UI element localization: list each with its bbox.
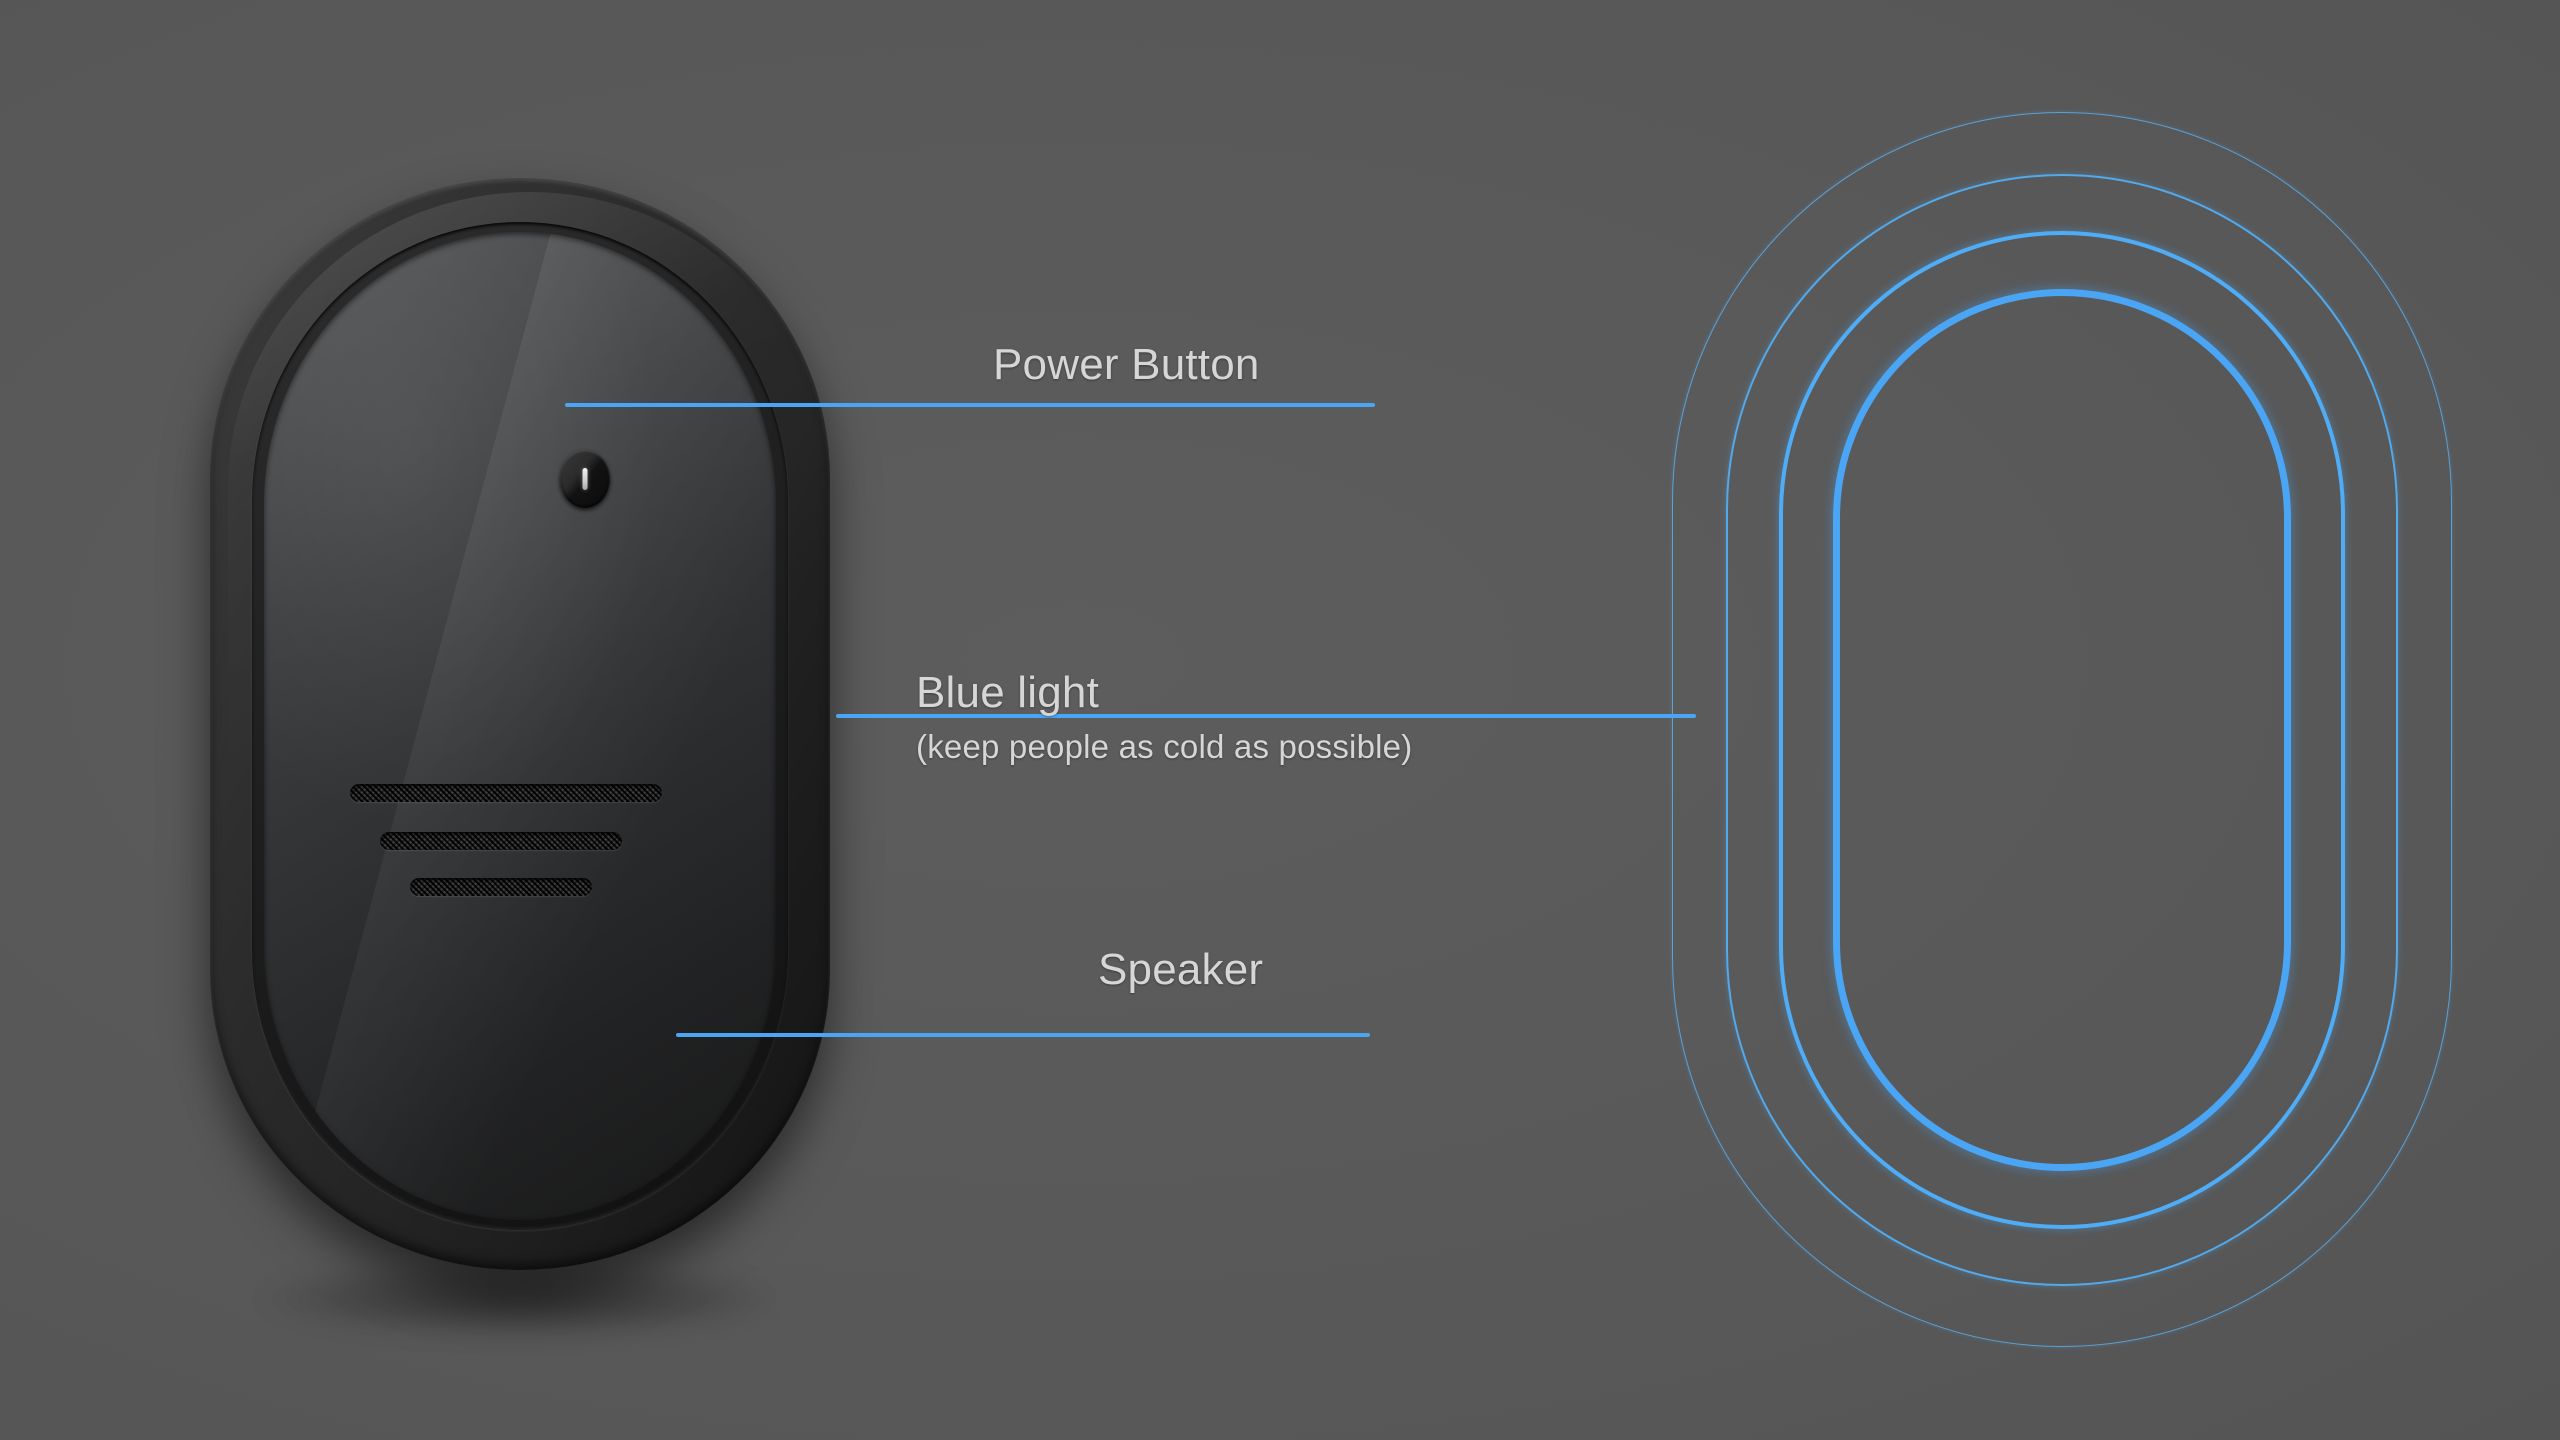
diagram-canvas: Power Button Blue light (keep people as … [0, 0, 2560, 1440]
speaker-grille-bar [410, 878, 592, 896]
device-front-panel [264, 232, 776, 1220]
speaker-grille-bar [380, 832, 622, 850]
callout-label-power-button: Power Button [993, 340, 1260, 390]
callout-line-power-button [565, 403, 1375, 407]
device-drop-shadow [260, 1258, 780, 1338]
panel-vignette [264, 232, 776, 1220]
speaker-grille-bar [350, 784, 662, 802]
device-illustration [200, 170, 840, 1280]
callout-sublabel-blue-light: (keep people as cold as possible) [916, 728, 1412, 766]
callout-line-speaker [676, 1033, 1370, 1037]
power-button[interactable] [560, 450, 610, 508]
blue-light-glow-rings [1660, 90, 2460, 1350]
callout-label-blue-light: Blue light [916, 668, 1099, 718]
callout-label-speaker: Speaker [1098, 945, 1263, 995]
panel-gloss-reflection [264, 232, 776, 1220]
power-icon [583, 468, 588, 490]
glow-ring-innermost [1833, 289, 2291, 1171]
